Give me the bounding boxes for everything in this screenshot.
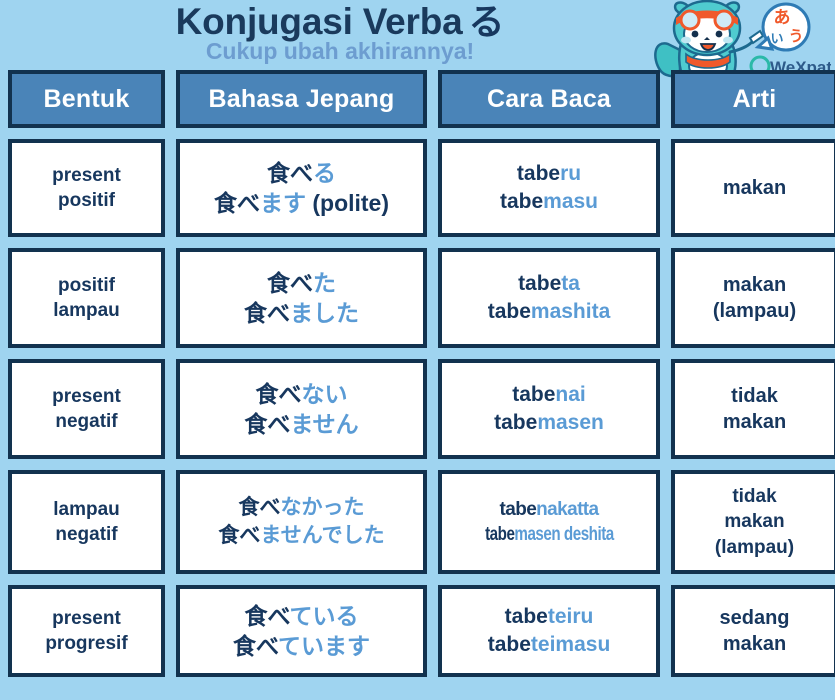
jp-stem: 食べ	[267, 160, 313, 186]
arti-line-2: makan	[679, 409, 830, 435]
japanese-polite-form: 食べました	[184, 298, 419, 328]
column-header-bahasa-jepang-label: Bahasa Jepang	[208, 85, 394, 114]
romaji-ending: teimasu	[531, 633, 610, 656]
cell-bentuk: positif lampau	[8, 248, 165, 348]
bentuk-line-2: progresif	[16, 631, 157, 656]
jp-ending: なかった	[281, 496, 365, 519]
cell-cara-baca: tabenakatta tabemasen deshita	[438, 470, 660, 574]
romaji-ending: masu	[543, 190, 598, 213]
jp-stem: 食べ	[244, 300, 290, 326]
romaji-ending: masen deshita	[514, 524, 613, 545]
romaji-stem: tabe	[518, 272, 561, 295]
romaji-plain-form: tabeteiru	[446, 603, 652, 631]
romaji-polite-form: tabemashita	[446, 298, 652, 326]
romaji-ending: ru	[560, 162, 581, 185]
bentuk-line-1: positif	[16, 273, 157, 298]
column-header-cara-baca: Cara Baca	[438, 70, 660, 128]
romaji-plain-form: taberu	[446, 160, 652, 188]
cell-bahasa-jepang: 食べなかった 食べませんでした	[176, 470, 427, 574]
table-row: present progresif 食べている 食べています tabeteiru…	[8, 585, 827, 677]
arti-line-1: makan	[679, 175, 830, 201]
romaji-stem: tabe	[494, 411, 537, 434]
column-header-arti-label: Arti	[733, 85, 777, 114]
jp-ending: ませんでした	[260, 524, 384, 547]
arti-line-1: sedang	[679, 605, 830, 631]
japanese-plain-form: 食べない	[184, 379, 419, 409]
mascot-logo-area: あ い う WeXpats	[646, 0, 831, 78]
japanese-polite-form: 食べません	[184, 409, 419, 439]
cell-arti: tidak makan	[671, 359, 835, 459]
romaji-ending: teiru	[548, 605, 594, 628]
bentuk-line-1: present	[16, 384, 157, 409]
jp-stem: 食べ	[244, 411, 290, 437]
japanese-polite-form: 食べませんでした	[184, 522, 419, 550]
romaji-plain-form: tabeta	[446, 270, 652, 298]
bubble-kana-a: あ	[774, 8, 791, 28]
arti-line-1: tidak	[679, 484, 830, 509]
cell-bahasa-jepang: 食べる 食べます (polite)	[176, 139, 427, 237]
arti-line-2: makan	[679, 631, 830, 657]
page-title-kana: る	[463, 1, 505, 42]
romaji-stem: tabe	[485, 524, 514, 545]
bentuk-line-2: positif	[16, 188, 157, 213]
table-row: positif lampau 食べた 食べました tabeta tabemash…	[8, 248, 827, 348]
jp-ending: ません	[290, 411, 358, 437]
jp-stem: 食べ	[233, 633, 278, 659]
cell-bahasa-jepang: 食べている 食べています	[176, 585, 427, 677]
romaji-polite-form: tabemasen deshita	[446, 522, 652, 547]
romaji-ending: ta	[561, 272, 580, 295]
bentuk-line-2: negatif	[16, 409, 157, 434]
japanese-polite-form: 食べます (polite)	[184, 188, 419, 218]
bubble-kana-u: う	[788, 27, 803, 45]
romaji-ending: masen	[537, 411, 604, 434]
romaji-ending: nakatta	[536, 499, 598, 520]
bentuk-line-2: lampau	[16, 298, 157, 323]
romaji-ending: mashita	[531, 300, 610, 323]
jp-ending: ている	[290, 603, 359, 629]
jp-ending: た	[313, 270, 336, 296]
romaji-polite-form: tabeteimasu	[446, 631, 652, 659]
cell-arti: tidak makan (lampau)	[671, 470, 835, 574]
cell-bentuk: lampau negatif	[8, 470, 165, 574]
japanese-polite-form: 食べています	[184, 631, 419, 661]
conjugation-table: Bentuk Bahasa Jepang Cara Baca Arti pres…	[8, 70, 827, 677]
jp-ending: ています	[278, 633, 370, 659]
cell-arti: makan	[671, 139, 835, 237]
romaji-stem: tabe	[517, 162, 560, 185]
jp-ending: ます	[260, 190, 306, 216]
page-title-text: Konjugasi Verba	[176, 1, 463, 42]
cell-bentuk: present progresif	[8, 585, 165, 677]
japanese-plain-form: 食べなかった	[184, 494, 419, 522]
jp-ending: ない	[302, 381, 348, 407]
romaji-ending: nai	[555, 383, 585, 406]
romaji-stem: tabe	[505, 605, 548, 628]
cell-cara-baca: taberu tabemasu	[438, 139, 660, 237]
column-header-bahasa-jepang: Bahasa Jepang	[176, 70, 427, 128]
japanese-plain-form: 食べた	[184, 268, 419, 298]
jp-ending: ました	[290, 300, 359, 326]
page-title: Konjugasi Verbaる	[0, 1, 680, 43]
cell-arti: makan (lampau)	[671, 248, 835, 348]
jp-stem: 食べ	[267, 270, 313, 296]
jp-stem: 食べ	[214, 190, 260, 216]
table-row: present negatif 食べない 食べません tabenai tabem…	[8, 359, 827, 459]
table-row: lampau negatif 食べなかった 食べませんでした tabenakat…	[8, 470, 827, 574]
mascot-squirrel-icon: あ い う WeXpats	[646, 0, 831, 78]
japanese-plain-form: 食べている	[184, 601, 419, 631]
bentuk-line-2: negatif	[16, 522, 157, 547]
arti-line-3: (lampau)	[679, 535, 830, 560]
arti-line-2: (lampau)	[679, 298, 830, 324]
romaji-stem: tabe	[500, 190, 543, 213]
column-header-arti: Arti	[671, 70, 835, 128]
title-block: Konjugasi Verbaる Cukup ubah akhirannya!	[0, 0, 680, 64]
jp-ending: る	[313, 160, 336, 186]
column-header-bentuk: Bentuk	[8, 70, 165, 128]
romaji-stem: tabe	[488, 633, 531, 656]
jp-stem: 食べ	[218, 524, 260, 547]
cell-bentuk: present positif	[8, 139, 165, 237]
romaji-plain-form: tabenakatta	[446, 497, 652, 522]
bentuk-line-1: present	[16, 163, 157, 188]
cell-bahasa-jepang: 食べない 食べません	[176, 359, 427, 459]
romaji-stem: tabe	[488, 300, 531, 323]
jp-stem: 食べ	[239, 496, 281, 519]
table-row: present positif 食べる 食べます (polite) taberu…	[8, 139, 827, 237]
romaji-stem: tabe	[500, 499, 537, 520]
bentuk-line-1: present	[16, 606, 157, 631]
bentuk-line-1: lampau	[16, 497, 157, 522]
page-subtitle: Cukup ubah akhirannya!	[0, 39, 680, 64]
arti-line-1: tidak	[679, 383, 830, 409]
cell-bahasa-jepang: 食べた 食べました	[176, 248, 427, 348]
cell-cara-baca: tabenai tabemasen	[438, 359, 660, 459]
bubble-kana-i: い	[770, 32, 783, 47]
column-header-bentuk-label: Bentuk	[44, 85, 130, 114]
cell-arti: sedang makan	[671, 585, 835, 677]
romaji-plain-form: tabenai	[446, 381, 652, 409]
jp-stem: 食べ	[244, 603, 289, 629]
romaji-polite-form: tabemasen	[446, 409, 652, 437]
romaji-stem: tabe	[512, 383, 555, 406]
jp-polite-note: (polite)	[306, 190, 389, 216]
cell-cara-baca: tabeteiru tabeteimasu	[438, 585, 660, 677]
table-header-row: Bentuk Bahasa Jepang Cara Baca Arti	[8, 70, 827, 128]
column-header-cara-baca-label: Cara Baca	[487, 85, 611, 114]
japanese-plain-form: 食べる	[184, 158, 419, 188]
cell-cara-baca: tabeta tabemashita	[438, 248, 660, 348]
page-header: Konjugasi Verbaる Cukup ubah akhirannya!	[0, 0, 835, 68]
arti-line-1: makan	[679, 272, 830, 298]
cell-bentuk: present negatif	[8, 359, 165, 459]
jp-stem: 食べ	[256, 381, 302, 407]
romaji-polite-form: tabemasu	[446, 188, 652, 216]
arti-line-2: makan	[679, 509, 830, 534]
